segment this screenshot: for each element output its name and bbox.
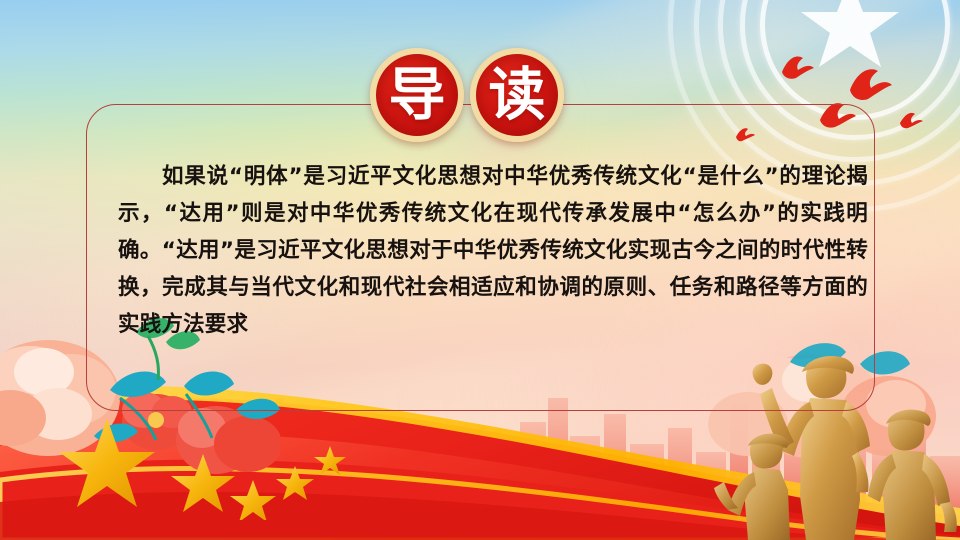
- gold-star-icon: [55, 410, 415, 520]
- body-paragraph: 如果说“明体”是习近平文化思想对中华优秀传统文化“是什么”的理论揭示，“达用”则…: [118, 158, 868, 343]
- daodu-badge: 导 读: [370, 48, 564, 142]
- badge-char-du: 读: [489, 67, 546, 124]
- slide-canvas: 如果说“明体”是习近平文化思想对中华优秀传统文化“是什么”的理论揭示，“达用”则…: [0, 0, 960, 540]
- dove-icon: [778, 52, 818, 82]
- dove-icon: [898, 110, 924, 130]
- badge-char-dao: 导: [389, 67, 446, 124]
- dove-icon: [845, 64, 895, 104]
- badge-circle-2: 读: [470, 48, 564, 142]
- badge-circle-1: 导: [370, 48, 464, 142]
